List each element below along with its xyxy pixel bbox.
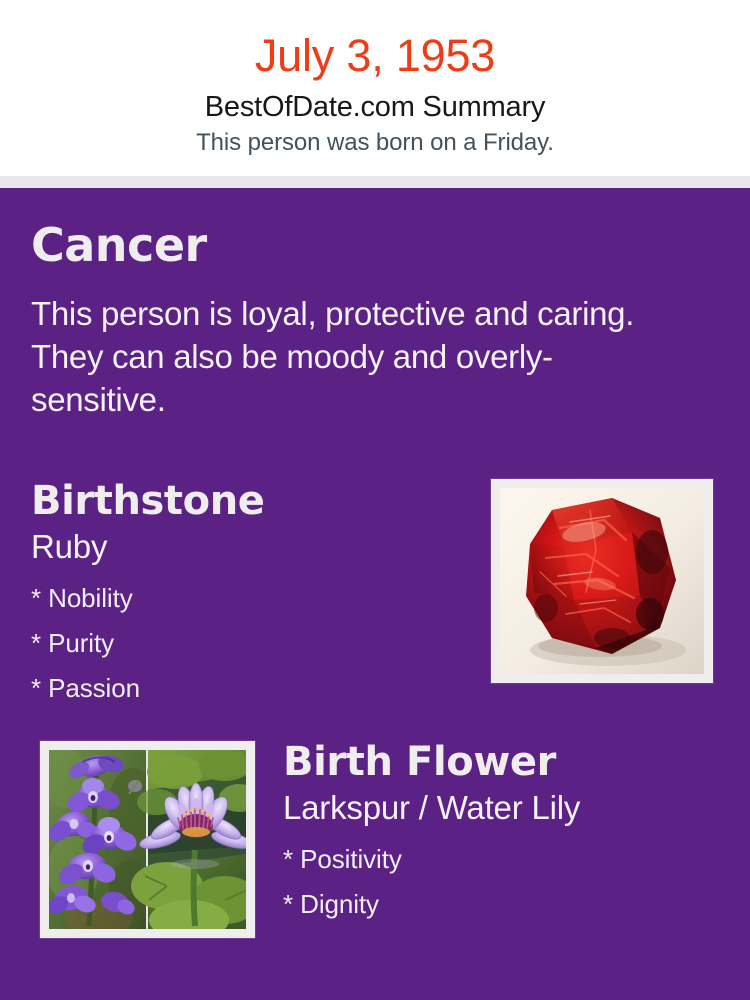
header-divider bbox=[0, 176, 750, 188]
birthstone-image-frame bbox=[491, 479, 713, 683]
list-item: * Purity bbox=[31, 621, 461, 666]
birthstone-block: Birthstone Ruby * Nobility * Purity * Pa… bbox=[31, 478, 461, 711]
list-item: * Dignity bbox=[283, 882, 723, 927]
zodiac-sign-title: Cancer bbox=[31, 219, 207, 271]
birth-day-note: This person was born on a Friday. bbox=[0, 125, 750, 158]
summary-page: July 3, 1953 BestOfDate.com Summary This… bbox=[0, 0, 750, 1000]
birth-flower-name: Larkspur / Water Lily bbox=[283, 788, 723, 828]
list-item: * Nobility bbox=[31, 576, 461, 621]
zodiac-description: This person is loyal, protective and car… bbox=[31, 292, 671, 421]
birth-flower-block: Birth Flower Larkspur / Water Lily * Pos… bbox=[283, 739, 723, 927]
list-item: * Positivity bbox=[283, 837, 723, 882]
page-header: July 3, 1953 BestOfDate.com Summary This… bbox=[0, 0, 750, 176]
birth-flower-trait-list: * Positivity * Dignity bbox=[283, 837, 723, 927]
site-summary-label: BestOfDate.com Summary bbox=[0, 82, 750, 125]
page-title-date: July 3, 1953 bbox=[0, 0, 750, 82]
list-item: * Passion bbox=[31, 666, 461, 711]
larkspur-water-lily-image bbox=[49, 750, 246, 929]
birth-flower-image-frame bbox=[40, 741, 255, 938]
ruby-gemstone-image bbox=[500, 488, 704, 674]
birthstone-trait-list: * Nobility * Purity * Passion bbox=[31, 576, 461, 711]
birthstone-name: Ruby bbox=[31, 527, 461, 567]
birth-flower-heading: Birth Flower bbox=[283, 739, 723, 786]
birthstone-heading: Birthstone bbox=[31, 478, 461, 525]
